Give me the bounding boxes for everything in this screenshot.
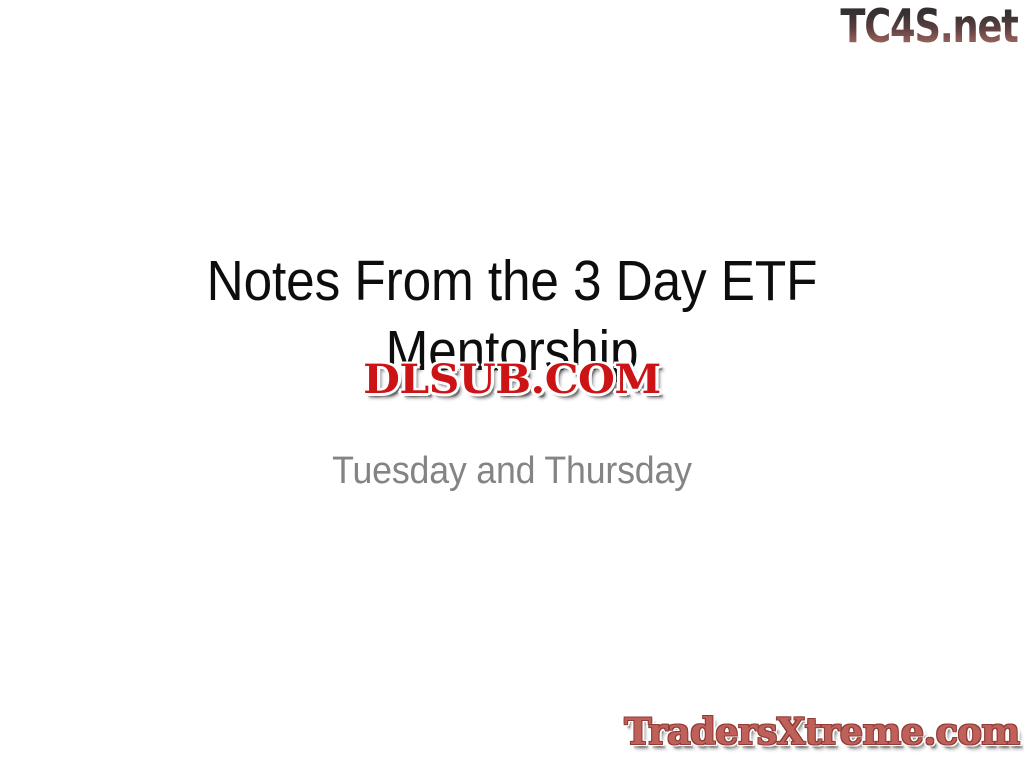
tc4s-watermark: TC4S.net <box>841 2 1018 50</box>
presentation-slide: TC4S.net Notes From the 3 Day ETF Mentor… <box>0 0 1024 768</box>
slide-title-line-1: Notes From the 3 Day ETF <box>51 246 973 316</box>
dlsub-watermark-label: DLSUB.COM <box>363 356 661 404</box>
tradersxtreme-watermark: TradersXtreme.com <box>632 710 1020 754</box>
slide-subtitle-label: Tuesday and Thursday <box>31 448 994 494</box>
tradersxtreme-watermark-label: TradersXtreme.com <box>625 710 1020 754</box>
slide-subtitle: Tuesday and Thursday <box>0 448 1024 494</box>
dlsub-watermark: DLSUB.COM <box>372 356 653 404</box>
